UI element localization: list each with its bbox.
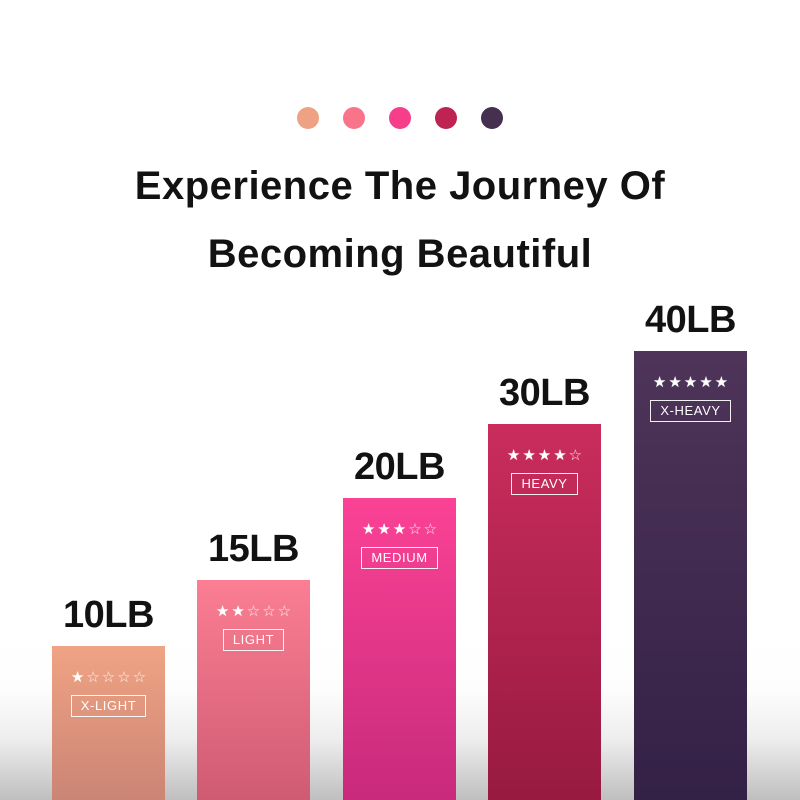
bar-group-10lb[interactable]: 10LB★☆☆☆☆X-LIGHT — [52, 646, 165, 800]
star-filled-icon: ★ — [231, 604, 244, 619]
star-empty-icon: ☆ — [117, 670, 130, 685]
bar-column[interactable]: ★★★☆☆MEDIUM — [343, 498, 456, 800]
star-empty-icon: ☆ — [102, 670, 115, 685]
bar-weight-label: 15LB — [208, 530, 299, 568]
star-empty-icon: ☆ — [278, 604, 291, 619]
star-filled-icon: ★ — [699, 375, 712, 390]
star-filled-icon: ★ — [522, 448, 535, 463]
bar-column[interactable]: ★★★★★X-HEAVY — [634, 351, 747, 800]
star-rating: ★★★☆☆ — [362, 522, 437, 537]
star-filled-icon: ★ — [507, 448, 520, 463]
star-empty-icon: ☆ — [262, 604, 275, 619]
star-empty-icon: ☆ — [86, 670, 99, 685]
bar-weight-label: 40LB — [645, 301, 736, 339]
resistance-level-badge: X-HEAVY — [650, 400, 730, 422]
bar-badge-stack: ★★☆☆☆LIGHT — [197, 580, 310, 651]
star-filled-icon: ★ — [362, 522, 375, 537]
bar-group-30lb[interactable]: 30LB★★★★☆HEAVY — [488, 424, 601, 800]
bar-group-40lb[interactable]: 40LB★★★★★X-HEAVY — [634, 351, 747, 800]
bar-badge-stack: ★★★★★X-HEAVY — [634, 351, 747, 422]
bar-weight-label: 20LB — [354, 448, 445, 486]
star-filled-icon: ★ — [684, 375, 697, 390]
bar-badge-stack: ★★★★☆HEAVY — [488, 424, 601, 495]
resistance-level-badge: HEAVY — [511, 473, 577, 495]
star-rating: ★★☆☆☆ — [216, 604, 291, 619]
star-filled-icon: ★ — [538, 448, 551, 463]
bar-column[interactable]: ★★☆☆☆LIGHT — [197, 580, 310, 800]
star-filled-icon: ★ — [71, 670, 84, 685]
star-rating: ★☆☆☆☆ — [71, 670, 146, 685]
star-empty-icon: ☆ — [424, 522, 437, 537]
bar-group-15lb[interactable]: 15LB★★☆☆☆LIGHT — [197, 580, 310, 800]
star-empty-icon: ☆ — [408, 522, 421, 537]
bar-column[interactable]: ★★★★☆HEAVY — [488, 424, 601, 800]
star-filled-icon: ★ — [377, 522, 390, 537]
star-filled-icon: ★ — [216, 604, 229, 619]
bar-weight-label: 30LB — [499, 374, 590, 412]
star-empty-icon: ☆ — [569, 448, 582, 463]
bar-column[interactable]: ★☆☆☆☆X-LIGHT — [52, 646, 165, 800]
star-empty-icon: ☆ — [247, 604, 260, 619]
resistance-level-badge: X-LIGHT — [71, 695, 146, 717]
poster-canvas: Experience The Journey Of Becoming Beaut… — [0, 0, 800, 800]
bar-badge-stack: ★☆☆☆☆X-LIGHT — [52, 646, 165, 717]
star-filled-icon: ★ — [553, 448, 566, 463]
star-rating: ★★★★☆ — [507, 448, 582, 463]
star-rating: ★★★★★ — [653, 375, 728, 390]
star-filled-icon: ★ — [653, 375, 666, 390]
resistance-level-badge: LIGHT — [223, 629, 284, 651]
resistance-level-badge: MEDIUM — [361, 547, 437, 569]
bar-badge-stack: ★★★☆☆MEDIUM — [343, 498, 456, 569]
star-filled-icon: ★ — [715, 375, 728, 390]
star-filled-icon: ★ — [668, 375, 681, 390]
star-filled-icon: ★ — [393, 522, 406, 537]
bar-weight-label: 10LB — [63, 596, 154, 634]
resistance-bar-chart: 10LB★☆☆☆☆X-LIGHT15LB★★☆☆☆LIGHT20LB★★★☆☆M… — [0, 0, 800, 800]
bar-group-20lb[interactable]: 20LB★★★☆☆MEDIUM — [343, 498, 456, 800]
star-empty-icon: ☆ — [133, 670, 146, 685]
